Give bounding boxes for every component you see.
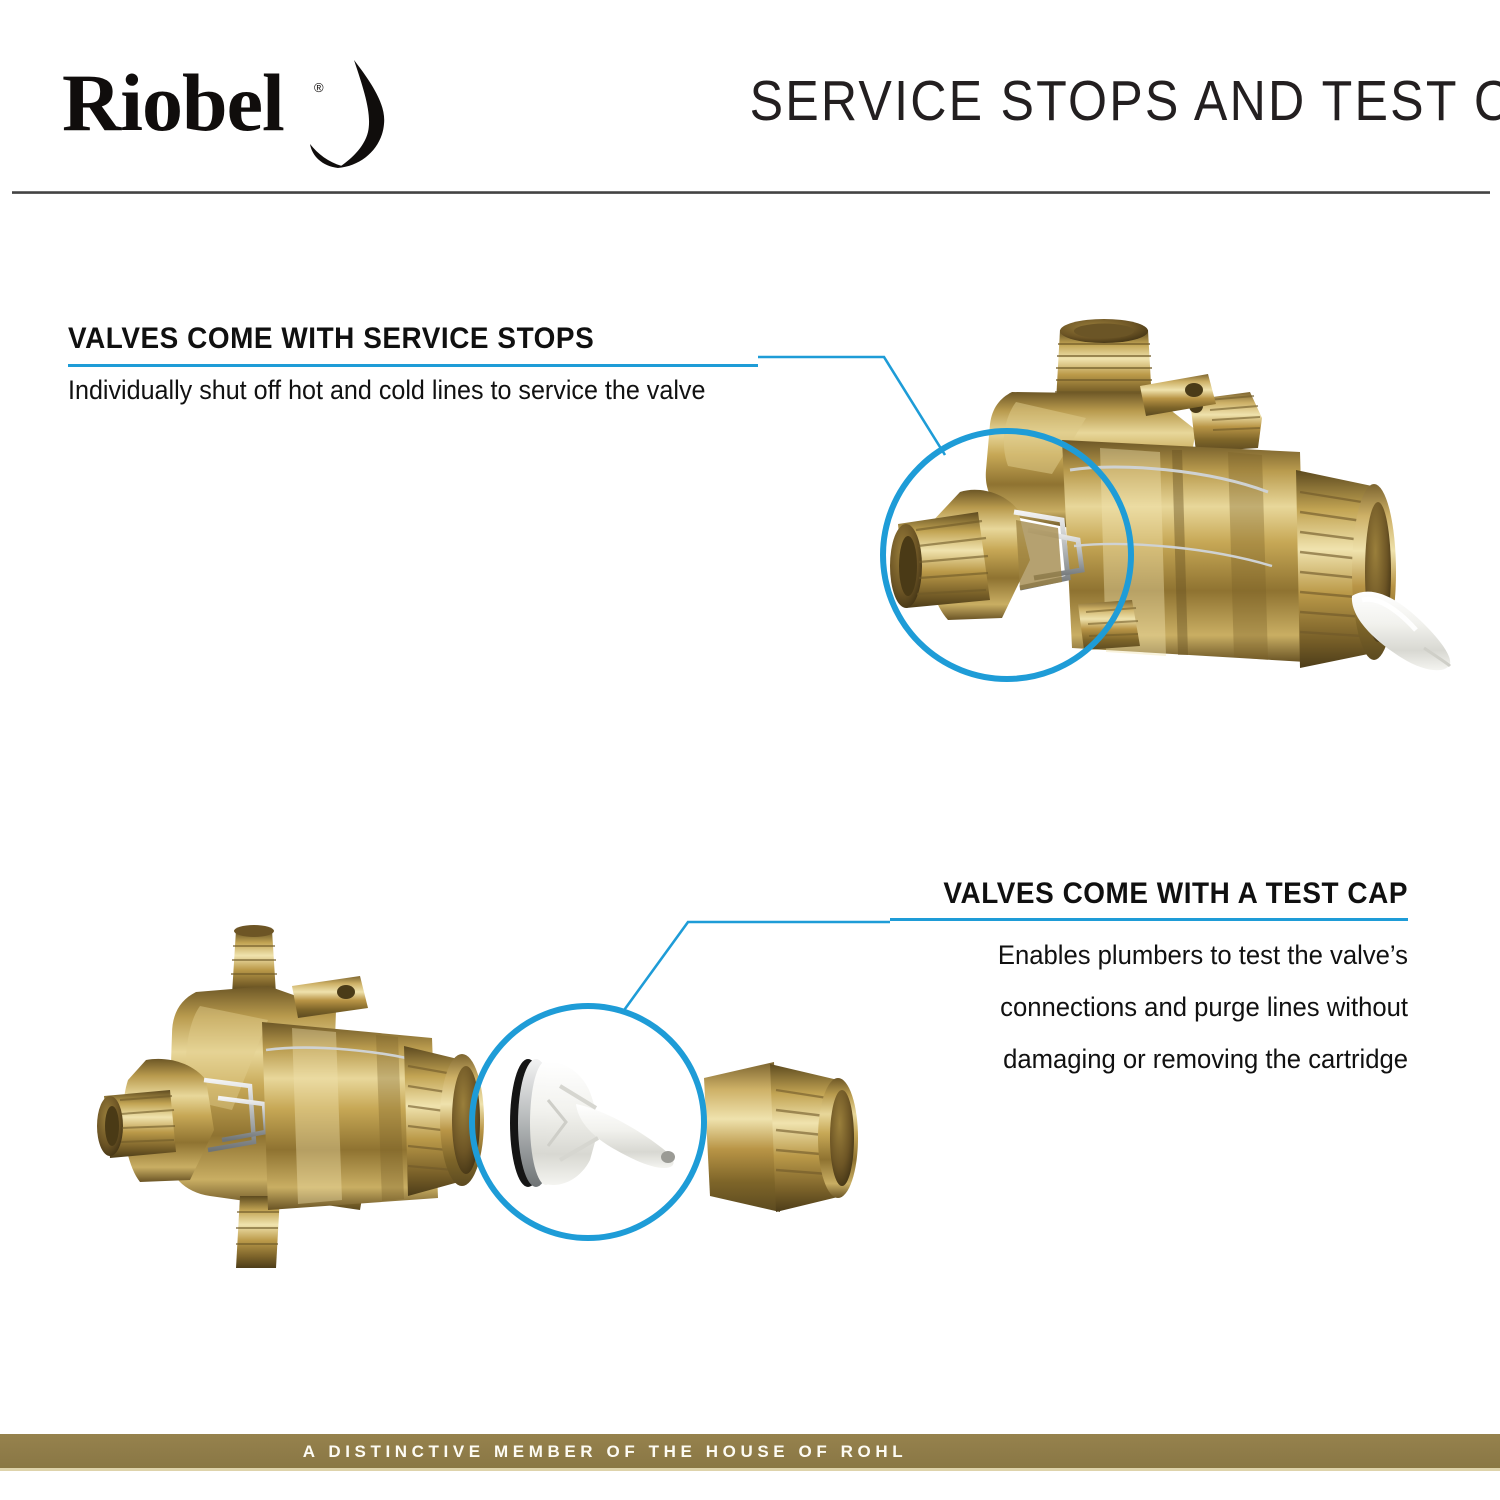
callout-test-cap-heading: VALVES COME WITH A TEST CAP <box>744 877 1408 911</box>
callout-test-cap-body-line-2: connections and purge lines without <box>730 981 1408 1033</box>
service-stop-outlet <box>890 490 1082 620</box>
test-cap-exploded <box>510 1059 675 1187</box>
page-title: SERVICE STOPS AND TEST CAP <box>750 68 1480 134</box>
valve-with-service-stops-image <box>0 0 1500 1500</box>
threaded-collar <box>1296 470 1396 668</box>
leader-line-service-stops <box>758 357 945 455</box>
callout-test-cap-body-line-1: Enables plumbers to test the valve’s <box>730 929 1408 981</box>
valve-top-assembly <box>890 319 1450 670</box>
circle-highlight-test-cap <box>472 1006 704 1238</box>
circle-highlight-service-stop <box>883 431 1131 679</box>
callout-service-stops-rule <box>68 364 758 367</box>
test-cap-cone <box>1352 592 1450 671</box>
logo-wordmark: Riobel <box>62 62 284 144</box>
callout-service-stops: VALVES COME WITH SERVICE STOPS Individua… <box>68 322 768 356</box>
upper-right-stub <box>1189 392 1262 452</box>
lower-port <box>1078 600 1140 650</box>
valve-open-thread-end <box>404 1046 484 1196</box>
mounting-ear <box>1140 374 1216 416</box>
callout-service-stops-heading: VALVES COME WITH SERVICE STOPS <box>68 322 719 356</box>
infographic-page: Riobel ® SERVICE STOPS AND TEST CAP <box>0 0 1500 1500</box>
pex-barb-top <box>231 925 277 994</box>
callout-test-cap-body-line-3: damaging or removing the cartridge <box>730 1033 1408 1085</box>
pex-barb-bottom <box>236 1196 280 1268</box>
retainer-clip <box>1014 512 1082 588</box>
callout-test-cap-body: Enables plumbers to test the valve’s con… <box>694 929 1408 1085</box>
top-outlet-port <box>1055 319 1153 402</box>
footer-text: A DISTINCTIVE MEMBER OF THE HOUSE OF ROH… <box>0 1442 1500 1462</box>
callout-service-stops-body: Individually shut off hot and cold lines… <box>68 375 705 406</box>
header-divider <box>12 191 1490 194</box>
callout-test-cap: VALVES COME WITH A TEST CAP Enables plum… <box>694 877 1408 911</box>
callout-test-cap-rule <box>890 918 1408 921</box>
riobel-logo: Riobel ® <box>62 52 382 170</box>
pex-barb-left <box>97 1059 266 1182</box>
water-drop-swoosh-icon <box>308 56 392 174</box>
